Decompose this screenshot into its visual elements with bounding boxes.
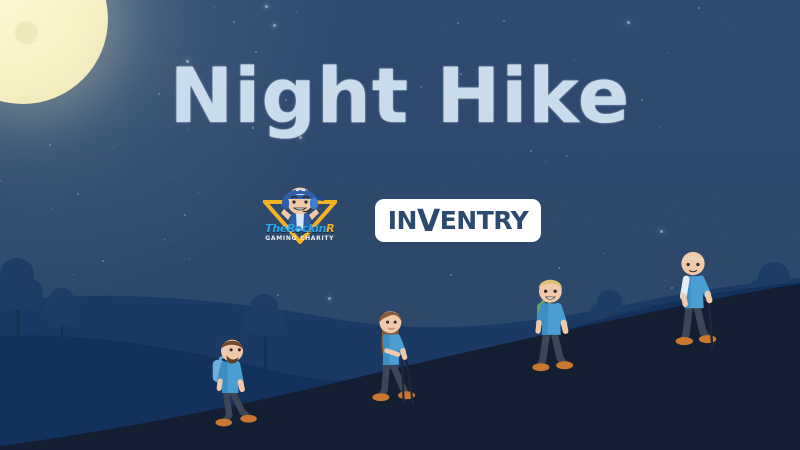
inventry-wordmark: INVENTRY	[388, 205, 529, 235]
charity-name-accent: R	[326, 222, 334, 235]
hiker-figure-icon	[198, 336, 262, 439]
hiker-1	[198, 336, 262, 439]
inventry-suffix: ENTRY	[440, 206, 529, 235]
charity-tagline: GAMING CHARITY	[259, 235, 341, 242]
hiker-2	[360, 306, 427, 412]
logo-row: R TheRockinR GAMING CHARITY	[0, 182, 800, 258]
charity-logo[interactable]: R TheRockinR GAMING CHARITY	[259, 182, 341, 258]
night-hike-poster: Night Hike R	[0, 0, 800, 450]
inventry-logo[interactable]: INVENTRY	[375, 199, 542, 242]
inventry-prefix: IN	[388, 206, 417, 235]
inventry-accent: V	[417, 204, 440, 239]
hiker-figure-icon	[520, 276, 587, 382]
charity-name: TheRockinR	[259, 222, 341, 235]
charity-name-text: TheRockin	[265, 222, 326, 235]
hiker-figure-icon	[662, 248, 730, 357]
hiker-4	[662, 248, 730, 357]
page-title: Night Hike	[0, 58, 800, 134]
hiker-3	[520, 276, 587, 382]
hiker-figure-icon	[360, 306, 427, 412]
